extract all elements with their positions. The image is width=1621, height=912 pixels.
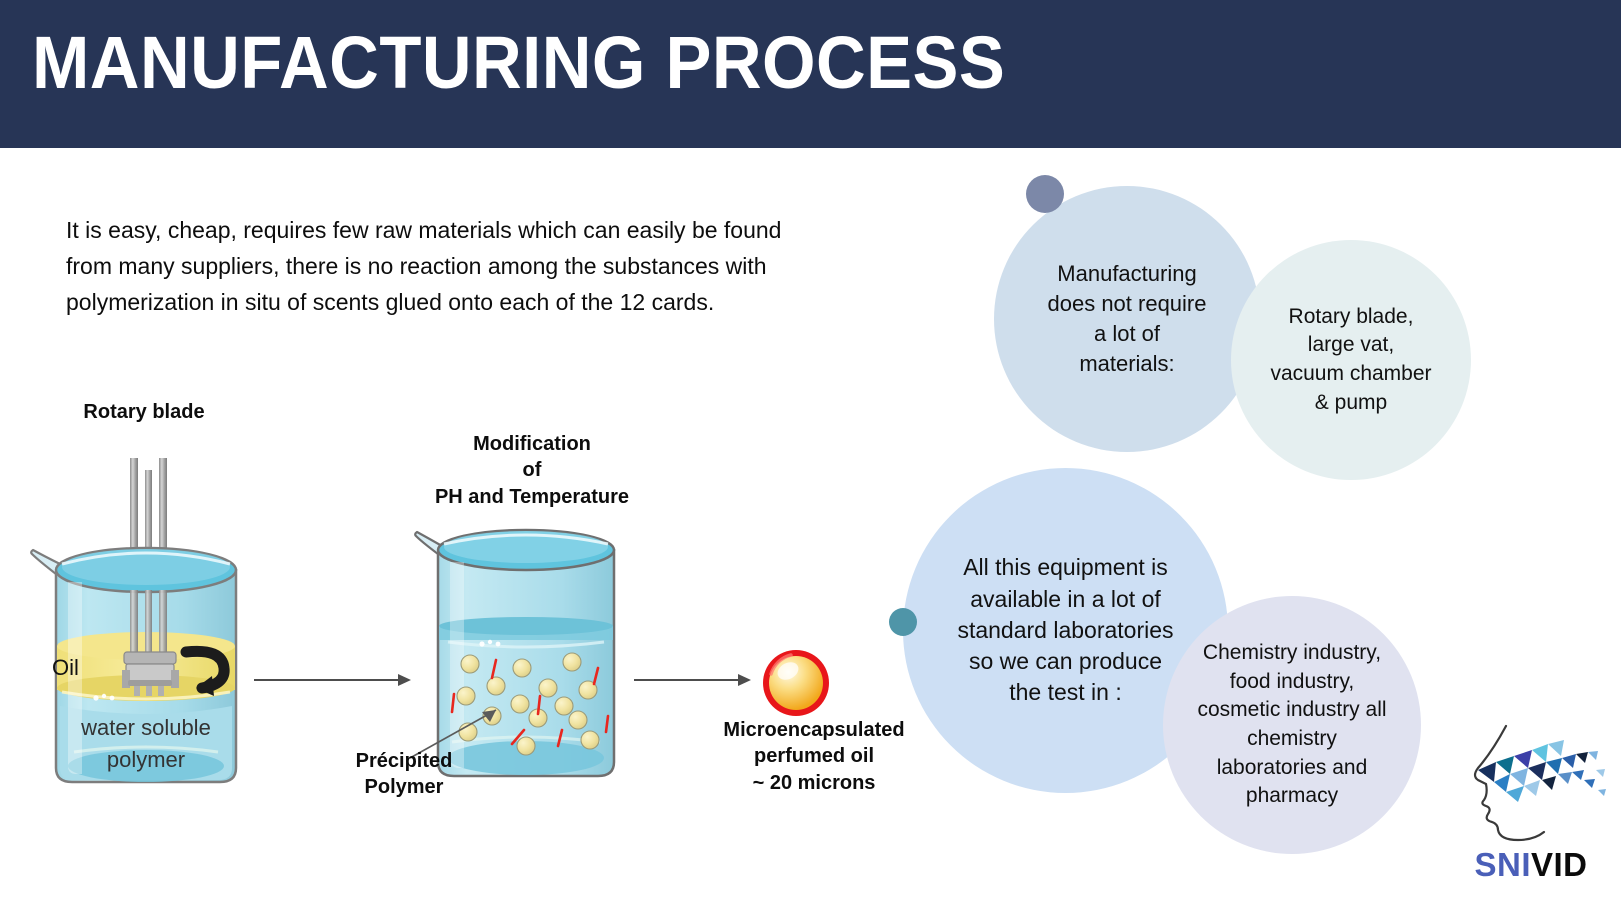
microcapsule-illustration — [757, 644, 835, 722]
bubble-materials: Manufacturing does not require a lot of … — [994, 186, 1260, 452]
bubble-industries-line4: chemistry — [1197, 725, 1386, 754]
intro-paragraph: It is easy, cheap, requires few raw mate… — [66, 212, 834, 320]
beaker-rotary-blade-illustration: Oil water soluble polymer — [26, 430, 286, 790]
process-arrow-2-icon — [632, 663, 752, 697]
intro-line-1: It is easy, cheap, requires few raw mate… — [66, 212, 834, 248]
intro-line-3: polymerization in situ of scents glued o… — [66, 284, 834, 320]
bubble-equipment-list-text: Rotary blade, large vat, vacuum chamber … — [1258, 303, 1443, 417]
bubble-laboratories-text: All this equipment is available in a lot… — [945, 552, 1185, 708]
bubble-materials-line3: a lot of — [1048, 319, 1207, 349]
bubble-labs-line1: All this equipment is — [957, 552, 1173, 583]
bubble-labs-line3: standard laboratories — [957, 615, 1173, 646]
solution-label-line2: polymer — [107, 747, 185, 772]
accent-dot-slate — [1026, 175, 1064, 213]
precipited-polymer-callout: Précipited Polymer — [330, 748, 478, 801]
bubble-materials-text: Manufacturing does not require a lot of … — [1036, 259, 1219, 379]
bubble-labs-line5: the test in : — [957, 677, 1173, 708]
accent-dot-teal — [889, 608, 917, 636]
bubble-industries-line3: cosmetic industry all — [1197, 696, 1386, 725]
modification-heading: Modification of PH and Temperature — [422, 431, 642, 510]
title-banner: MANUFACTURING PROCESS — [0, 0, 1621, 148]
bubble-materials-line4: materials: — [1048, 349, 1207, 379]
bubble-equipment-line3: vacuum chamber — [1270, 360, 1431, 389]
bubble-industries-line1: Chemistry industry, — [1197, 639, 1386, 668]
bubble-equipment-line1: Rotary blade, — [1270, 303, 1431, 332]
bubble-materials-line1: Manufacturing — [1048, 259, 1207, 289]
bubble-equipment-line4: & pump — [1270, 389, 1431, 418]
microcapsule-label-line1: Microencapsulated — [700, 717, 928, 743]
precipited-polymer-line1: Précipited — [330, 748, 478, 774]
rotary-blade-heading: Rotary blade — [46, 399, 242, 425]
precipited-polymer-line2: Polymer — [330, 774, 478, 800]
snivid-logo: SNIVID — [1448, 718, 1614, 898]
oil-label: Oil — [52, 655, 79, 680]
slide-canvas: MANUFACTURING PROCESS It is easy, cheap,… — [0, 0, 1621, 912]
bubble-labs-line2: available in a lot of — [957, 584, 1173, 615]
solution-label-line1: water soluble — [80, 715, 211, 740]
process-arrow-1-icon — [252, 663, 412, 697]
intro-line-2: from many suppliers, there is no reactio… — [66, 248, 834, 284]
microcapsule-label: Microencapsulated perfumed oil ~ 20 micr… — [700, 717, 928, 796]
bubble-industries: Chemistry industry, food industry, cosme… — [1163, 596, 1421, 854]
microcapsule-label-line2: perfumed oil — [700, 743, 928, 769]
bubble-industries-line2: food industry, — [1197, 668, 1386, 697]
modification-heading-line1: Modification — [422, 431, 642, 457]
bubble-equipment-list: Rotary blade, large vat, vacuum chamber … — [1231, 240, 1471, 480]
bubble-industries-text: Chemistry industry, food industry, cosme… — [1185, 639, 1398, 810]
snivid-wordmark: SNIVID — [1448, 846, 1614, 884]
particle-triangles — [1478, 740, 1606, 802]
face-profile-icon — [1448, 718, 1614, 844]
microcapsule-label-line3: ~ 20 microns — [700, 770, 928, 796]
logo-word-first: SNI — [1474, 846, 1531, 883]
bubble-materials-line2: does not require — [1048, 289, 1207, 319]
modification-heading-line2: of — [422, 457, 642, 483]
page-title: MANUFACTURING PROCESS — [32, 24, 1005, 102]
bubble-industries-line5: laboratories and — [1197, 754, 1386, 783]
bubble-labs-line4: so we can produce — [957, 646, 1173, 677]
modification-heading-line3: PH and Temperature — [422, 484, 642, 510]
bubble-industries-line6: pharmacy — [1197, 782, 1386, 811]
bubble-equipment-line2: large vat, — [1270, 331, 1431, 360]
logo-word-second: VID — [1531, 846, 1588, 883]
